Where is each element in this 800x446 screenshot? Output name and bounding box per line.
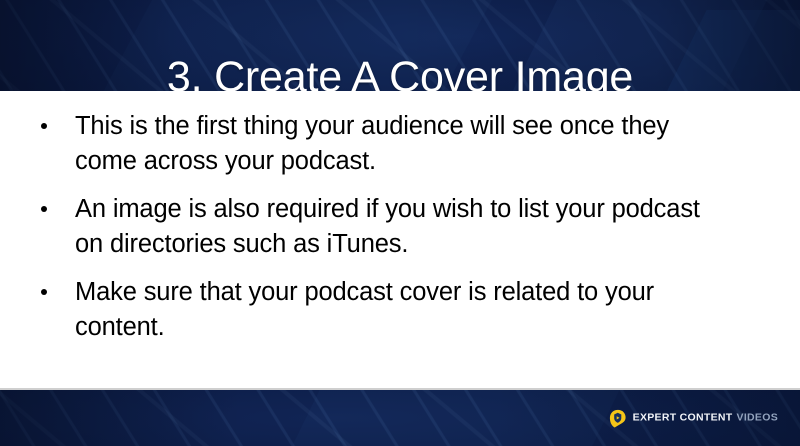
slide-footer-banner: EXPERT CONTENT VIDEOS [0,390,800,446]
bullet-point-icon [41,206,47,212]
list-item: This is the first thing your audience wi… [0,109,800,180]
shield-play-logo-icon [608,409,627,428]
list-item-text: An image is also required if you wish to… [75,195,700,258]
brand-name-primary: EXPERT CONTENT [633,413,733,424]
list-item: Make sure that your podcast cover is rel… [0,275,800,346]
bullet-list: This is the first thing your audience wi… [0,91,800,346]
list-item-text: This is the first thing your audience wi… [75,112,669,175]
list-item-text: Make sure that your podcast cover is rel… [75,278,654,341]
brand-logo-text: EXPERT CONTENT VIDEOS [633,413,778,424]
brand-name-secondary: VIDEOS [737,413,778,424]
bullet-point-icon [41,289,47,295]
slide-body: This is the first thing your audience wi… [0,91,800,390]
bullet-point-icon [41,123,47,129]
presentation-slide: 3. Create A Cover Image This is the firs… [0,0,800,446]
footer-polygon [261,390,639,446]
brand-logo: EXPERT CONTENT VIDEOS [608,409,778,428]
list-item: An image is also required if you wish to… [0,192,800,263]
